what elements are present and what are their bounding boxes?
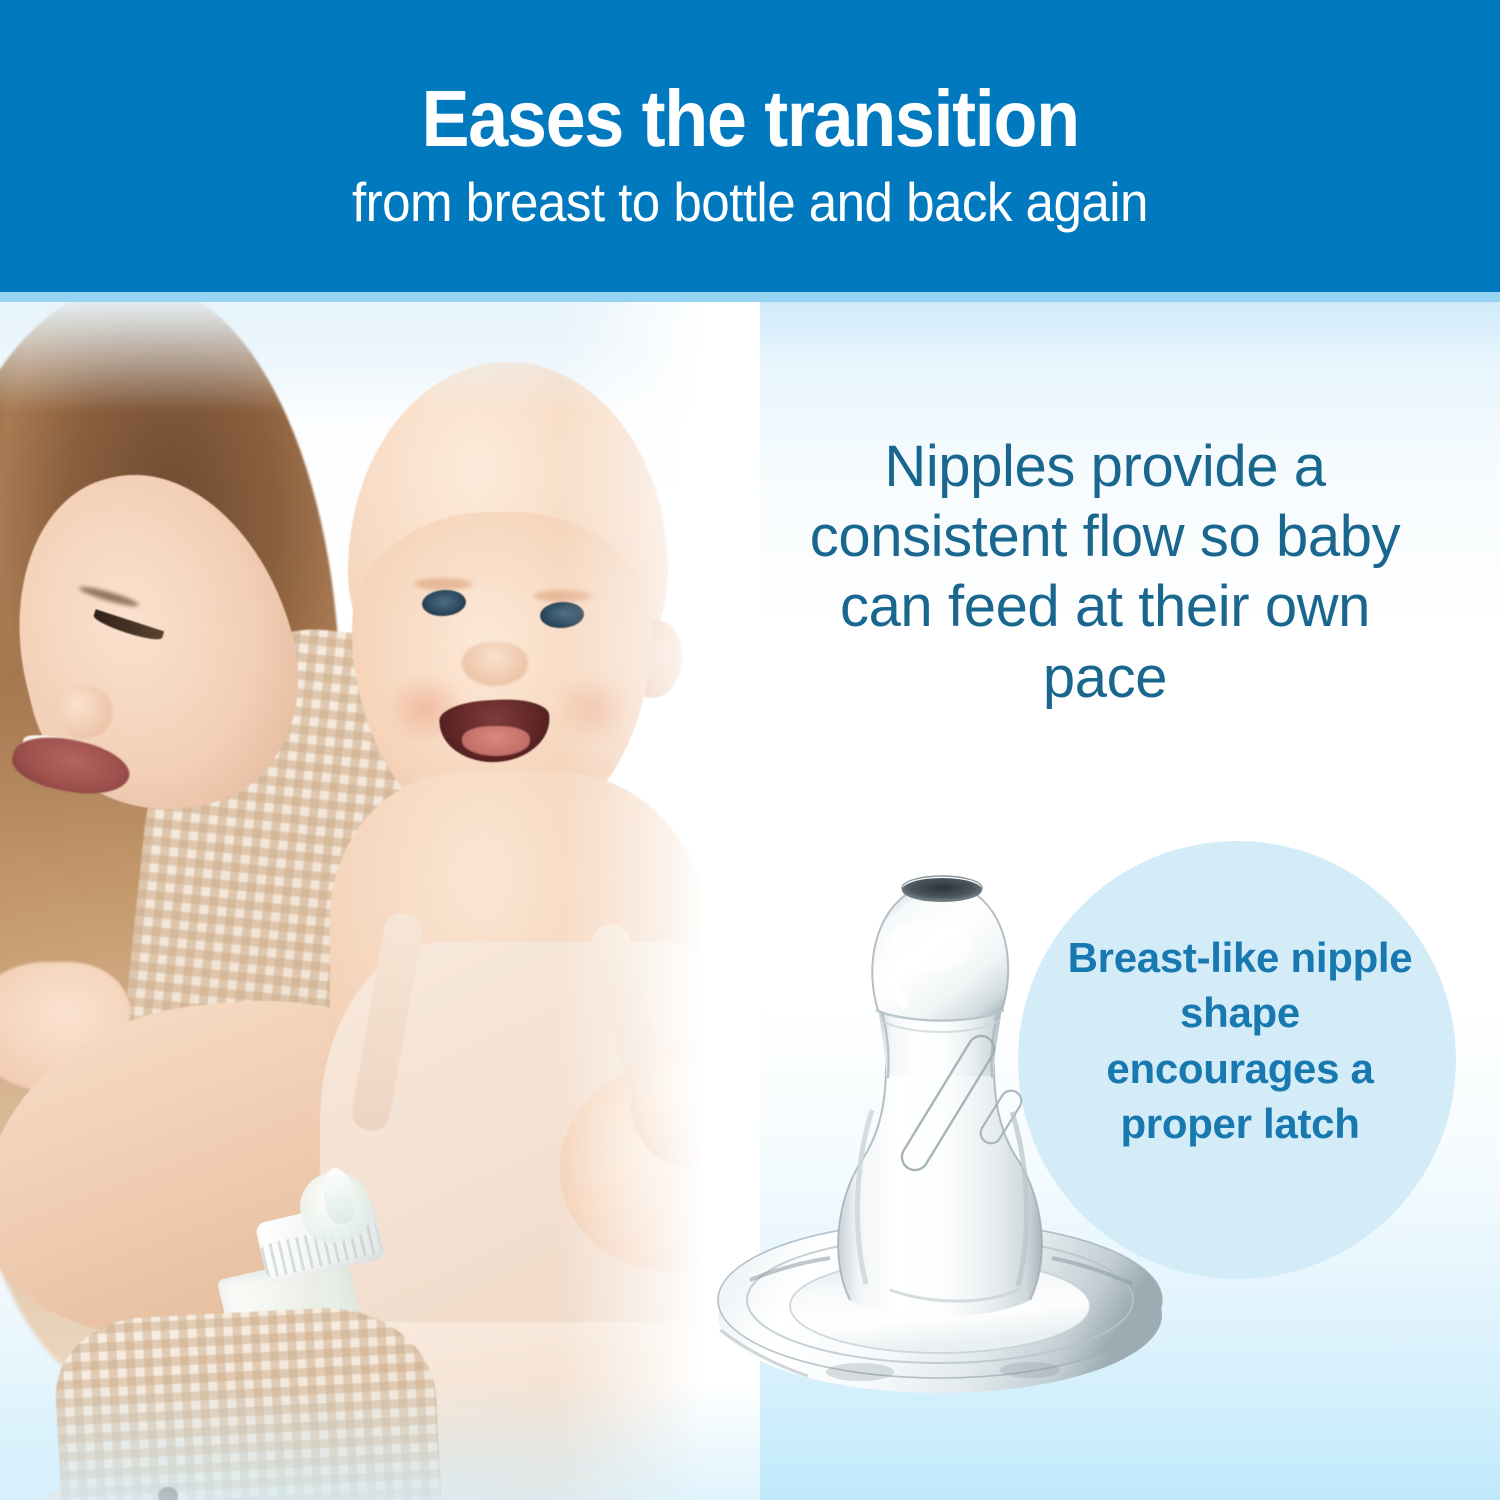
nipple-skirt bbox=[838, 1066, 1042, 1317]
baby-tongue bbox=[462, 726, 530, 756]
banner-accent-stripe bbox=[0, 292, 1500, 302]
photo-bottom-fade bbox=[0, 1380, 760, 1500]
callout-label: Breast-like nipple shape encourages a pr… bbox=[1060, 930, 1420, 1152]
lifestyle-photo: Brown's bbox=[0, 302, 760, 1500]
nipple-feeding-hole bbox=[902, 878, 982, 902]
infographic-canvas: Eases the transition from breast to bott… bbox=[0, 0, 1500, 1500]
baby-nose bbox=[462, 642, 528, 686]
header-banner: Eases the transition from breast to bott… bbox=[0, 0, 1500, 292]
feature-description: Nipples provide a consistent flow so bab… bbox=[795, 432, 1415, 713]
banner-subheadline: from breast to bottle and back again bbox=[352, 174, 1148, 232]
baby-eyelid-left bbox=[414, 578, 472, 590]
banner-headline: Eases the transition bbox=[421, 78, 1078, 160]
